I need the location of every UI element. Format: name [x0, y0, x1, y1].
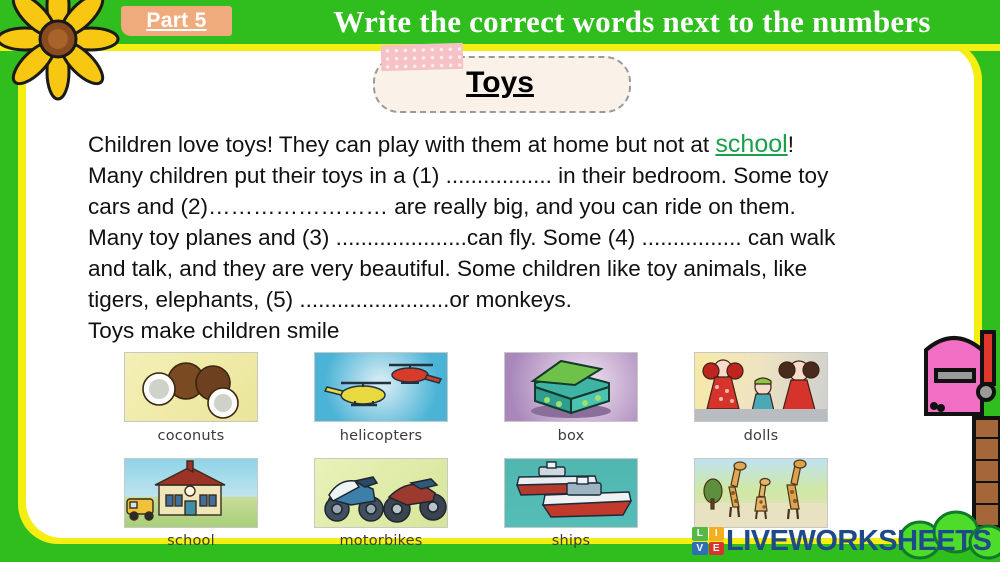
reading-passage: Children love toys! They can play with t…: [88, 129, 948, 346]
filled-answer-school[interactable]: school: [715, 130, 787, 158]
picture-caption: coconuts: [96, 428, 286, 444]
picture-caption: school: [96, 533, 286, 549]
passage-line-7: Toys make children smile: [88, 318, 339, 343]
passage-line-6: tigers, elephants, (5) .................…: [88, 287, 572, 312]
box-image: [504, 352, 638, 422]
logo-block-l: L: [692, 527, 708, 541]
giraffes-image: [694, 458, 828, 528]
logo-block-e: E: [709, 542, 725, 556]
picture-cell-dolls: dolls: [666, 352, 856, 444]
header-underline: [0, 44, 1000, 51]
liveworksheets-logo-icon: L I V E: [692, 527, 724, 555]
picture-grid: coconuts: [96, 352, 856, 549]
picture-caption: motorbikes: [286, 533, 476, 549]
passage-line-2: Many children put their toys in a (1) ..…: [88, 163, 828, 188]
picture-cell-box: box: [476, 352, 666, 444]
picture-cell-motorbikes: motorbikes: [286, 458, 476, 549]
passage-line-1b: !: [788, 132, 794, 157]
passage-line-3: cars and (2)…………………… are really big, and…: [88, 194, 796, 219]
picture-caption: dolls: [666, 428, 856, 444]
picture-row-1: coconuts: [96, 352, 856, 444]
part-badge-label: Part 5: [121, 6, 232, 36]
page-title: Write the correct words next to the numb…: [272, 4, 992, 40]
coconuts-image: [124, 352, 258, 422]
school-image: [124, 458, 258, 528]
dolls-image: [694, 352, 828, 422]
picture-caption: box: [476, 428, 666, 444]
worksheet-page: Part 5 Write the correct words next to t…: [0, 0, 1000, 562]
motorbikes-image: [314, 458, 448, 528]
logo-block-v: V: [692, 542, 708, 556]
passage-line-4: Many toy planes and (3) ................…: [88, 225, 835, 250]
picture-cell-school: school: [96, 458, 286, 549]
picture-caption: helicopters: [286, 428, 476, 444]
part-badge: Part 5: [121, 6, 232, 36]
watermark-text: LIVEWORKSHEETS: [726, 526, 991, 556]
passage-line-1a: Children love toys! They can play with t…: [88, 132, 715, 157]
picture-cell-coconuts: coconuts: [96, 352, 286, 444]
topic-title: Toys: [373, 60, 627, 105]
passage-line-5: and talk, and they are very beautiful. S…: [88, 256, 807, 281]
picture-cell-ships: ships: [476, 458, 666, 549]
ships-image: [504, 458, 638, 528]
logo-block-i: I: [709, 527, 725, 541]
picture-caption: ships: [476, 533, 666, 549]
helicopters-image: [314, 352, 448, 422]
flower-icon: [0, 0, 124, 104]
liveworksheets-watermark: L I V E LIVEWORKSHEETS: [692, 524, 991, 558]
picture-cell-helicopters: helicopters: [286, 352, 476, 444]
